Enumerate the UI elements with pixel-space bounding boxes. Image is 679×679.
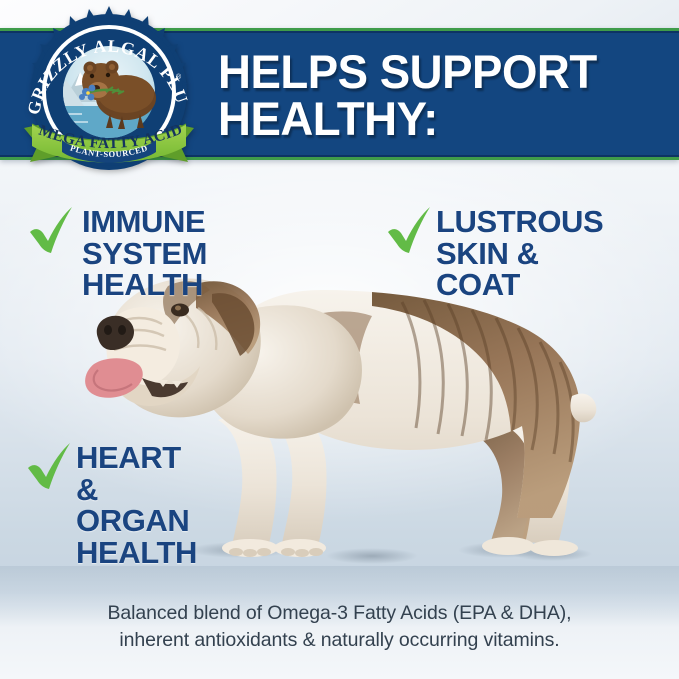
check-icon <box>24 440 72 494</box>
check-icon <box>26 204 74 258</box>
check-icon <box>384 204 432 258</box>
brand-logo-badge: GRIZZLY ALGAL PLUS ® OMEGA FATTY ACIDS P… <box>18 6 200 178</box>
registered-trademark-mark: ® <box>176 73 182 81</box>
headline-text: HELPS SUPPORT HEALTHY: <box>218 49 645 142</box>
benefit-label: HEART & ORGAN HEALTH <box>76 442 197 568</box>
product-benefits-graphic: HELPS SUPPORT HEALTHY: <box>0 0 679 679</box>
benefit-label: IMMUNE SYSTEM HEALTH <box>82 206 207 301</box>
benefit-label: LUSTROUS SKIN & COAT <box>436 206 603 301</box>
product-caption: Balanced blend of Omega-3 Fatty Acids (E… <box>0 600 679 654</box>
